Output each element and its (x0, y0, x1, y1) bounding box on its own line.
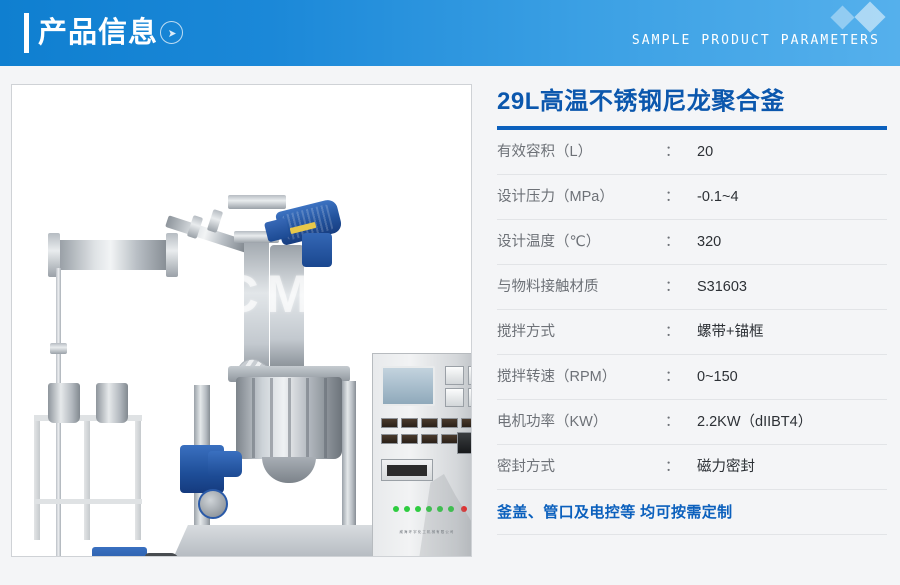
product-image-frame[interactable]: 威海环宇化工机械有限公司 HGCM (11, 84, 472, 557)
header-accent-bar (24, 13, 29, 53)
spec-row: 有效容积（L）：20 (497, 130, 887, 175)
display-meter-screen (387, 465, 427, 476)
product-spec-panel: 29L高温不锈钢尼龙聚合釜 有效容积（L）：20设计压力（MPa）：-0.1~4… (497, 86, 887, 535)
rack-leg (34, 415, 40, 540)
spec-row: 设计压力（MPa）：-0.1~4 (497, 175, 887, 220)
speed-knob (457, 432, 472, 454)
reactor-discharge-valve (262, 457, 316, 483)
reactor-neck (270, 245, 304, 370)
indicator-led-green (404, 506, 410, 512)
spec-label: 设计压力（MPa） (497, 175, 614, 220)
spec-label: 与物料接触材质 (497, 265, 599, 310)
vessel-rib (270, 378, 273, 458)
page-header: 产品信息 SAMPLE PRODUCT PARAMETERS (0, 0, 900, 66)
vacuum-pump-motor (145, 553, 179, 557)
spec-separator: ： (665, 445, 680, 490)
motor-gearbox (302, 233, 332, 267)
spec-label: 有效容积（L） (497, 130, 592, 175)
column-head-flange (228, 195, 286, 209)
chevron-right-icon[interactable] (160, 21, 183, 44)
digital-controller (441, 418, 458, 428)
indicator-led-green (393, 506, 399, 512)
spec-separator: ： (665, 355, 680, 400)
spec-separator: ： (665, 400, 680, 445)
indicator-led-green (415, 506, 421, 512)
vessel-rib (288, 378, 291, 458)
analog-gauge (445, 388, 464, 407)
spec-row: 电机功率（KW）：2.2KW（dIIBT4） (497, 400, 887, 445)
digital-controller (401, 434, 418, 444)
spec-separator: ： (665, 265, 680, 310)
image-watermark: HGCM (52, 270, 392, 320)
spec-value: S31603 (697, 265, 747, 310)
receiver-flask-1 (48, 383, 80, 423)
digital-controller (381, 434, 398, 444)
spec-label: 搅拌方式 (497, 310, 555, 355)
product-title: 29L高温不锈钢尼龙聚合釜 (497, 86, 887, 118)
analog-gauge (445, 366, 464, 385)
spec-row: 密封方式：磁力密封 (497, 445, 887, 490)
spec-label: 电机功率（KW） (497, 400, 607, 445)
rack-leg (135, 415, 141, 540)
spec-list: 有效容积（L）：20设计压力（MPa）：-0.1~4设计温度（℃）：320与物料… (497, 130, 887, 490)
spec-separator: ： (665, 310, 680, 355)
pipe-flange-b (207, 209, 223, 233)
header-subtitle: SAMPLE PRODUCT PARAMETERS (632, 33, 880, 48)
spec-separator: ： (665, 175, 680, 220)
vessel-rib (324, 378, 327, 458)
condenser-tube (54, 240, 172, 270)
product-info-page: 产品信息 SAMPLE PRODUCT PARAMETERS (0, 0, 900, 585)
page-title: 产品信息 (38, 13, 158, 53)
spec-value: -0.1~4 (697, 175, 739, 220)
spec-value: 磁力密封 (697, 445, 755, 490)
condenser-flange-right (166, 233, 178, 277)
product-photo: 威海环宇化工机械有限公司 HGCM (12, 85, 471, 556)
spec-value: 0~150 (697, 355, 738, 400)
digital-controller (441, 434, 458, 444)
digital-controller (421, 434, 438, 444)
vacuum-pump (92, 547, 147, 557)
receiver-flask-2 (96, 383, 128, 423)
display-meter (381, 459, 433, 481)
spec-row: 设计温度（℃）：320 (497, 220, 887, 265)
analog-gauge (468, 366, 472, 385)
vessel-rib (306, 378, 309, 458)
spec-row: 搅拌转速（RPM）：0~150 (497, 355, 887, 400)
analog-gauge (468, 388, 472, 407)
spec-separator: ： (665, 220, 680, 265)
spec-value: 2.2KW（dIIBT4） (697, 400, 812, 445)
digital-controller (401, 418, 418, 428)
spec-label: 搅拌转速（RPM） (497, 355, 616, 400)
control-cabinet: 威海环宇化工机械有限公司 (372, 353, 472, 557)
lift-motor (208, 451, 242, 477)
spec-value: 螺带+锚框 (697, 310, 763, 355)
spec-separator: ： (665, 130, 680, 175)
spec-label: 密封方式 (497, 445, 555, 490)
vessel-rib (252, 378, 255, 458)
rod-clamp (50, 343, 67, 354)
spec-label: 设计温度（℃） (497, 220, 600, 265)
digital-controller (421, 418, 438, 428)
receiver-rack (34, 415, 142, 540)
rack-leg (84, 415, 90, 540)
hmi-touchscreen (381, 366, 435, 406)
spec-value: 20 (697, 130, 713, 175)
digital-controller (381, 418, 398, 428)
lift-flange (198, 489, 228, 519)
diamond-decor-large (854, 1, 885, 32)
digital-controller (461, 418, 472, 428)
rack-mid-rail (34, 499, 142, 504)
cabinet-shadow (419, 474, 471, 557)
spec-row: 搅拌方式：螺带+锚框 (497, 310, 887, 355)
diamond-decor-small (830, 5, 854, 29)
customization-note: 釜盖、管口及电控等 均可按需定制 (497, 490, 887, 535)
spec-row: 与物料接触材质：S31603 (497, 265, 887, 310)
spec-value: 320 (697, 220, 721, 265)
